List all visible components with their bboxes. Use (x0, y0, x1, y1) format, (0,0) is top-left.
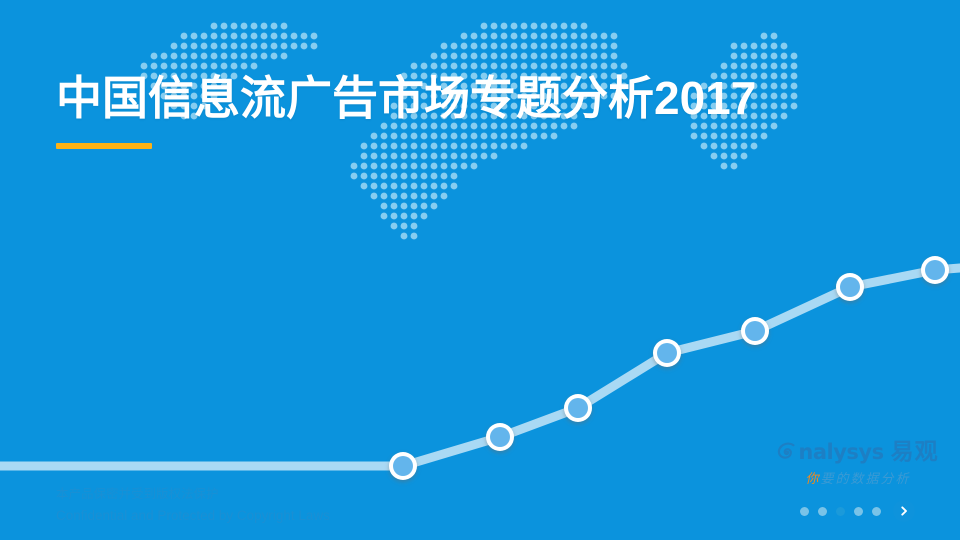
logo-tagline-accent: 你 (805, 471, 820, 486)
logo-tagline-rest: 要的数据分析 (821, 471, 911, 486)
logo-tagline: 你要的数据分析 (778, 468, 938, 487)
next-slide-button[interactable] (893, 500, 915, 522)
title-block: 中国信息流广告市场专题分析2017 (56, 72, 886, 149)
analysys-logo: nalysys 易观 你要的数据分析 (778, 432, 938, 487)
logo-wordmark-en: nalysys (798, 440, 883, 464)
logo-wordmark-cn: 易观 (891, 432, 939, 466)
analysys-swoosh-icon (777, 442, 797, 462)
pager-dot-5[interactable] (872, 507, 881, 516)
pager-dot-4[interactable] (854, 507, 863, 516)
confidentiality-notice-en: Confidential and Protected by Copyright … (56, 505, 330, 527)
pager-dot-3[interactable] (836, 507, 845, 516)
slide-canvas: 中国信息流广告市场专题分析2017 本产品保密并受到版权法保护 Confiden… (0, 0, 960, 540)
confidentiality-notice: 本产品保密并受到版权法保护 Confidential and Protected… (56, 484, 330, 527)
confidentiality-notice-cn: 本产品保密并受到版权法保护 (56, 484, 330, 505)
title-accent-rule (56, 143, 152, 149)
chevron-right-icon (898, 505, 910, 517)
pager-dot-2[interactable] (818, 507, 827, 516)
logo-wordmark-row: nalysys 易观 (778, 432, 938, 466)
pager-controls[interactable] (800, 500, 915, 522)
pager-dot-1[interactable] (800, 507, 809, 516)
page-title: 中国信息流广告市场专题分析2017 (56, 72, 886, 125)
